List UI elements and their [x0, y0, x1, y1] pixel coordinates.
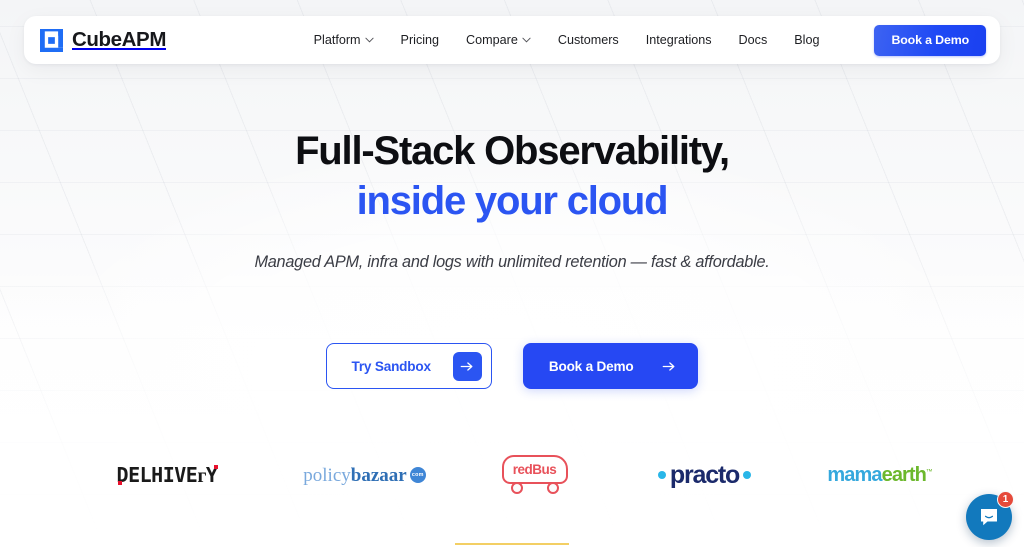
hero-cta-group: Try Sandbox Book a Demo	[0, 343, 1024, 389]
brand-logo-link[interactable]: CubeAPM	[40, 28, 166, 52]
headline-line-1: Full-Stack Observability,	[295, 129, 729, 173]
nav-label: Platform	[314, 33, 361, 47]
chat-widget: 1	[966, 494, 1012, 540]
mamaearth-wordmark-a: mama	[827, 464, 881, 486]
policybazaar-com-badge: com	[410, 467, 426, 483]
logo-delhivery: DELHIVEᴦY	[57, 452, 277, 498]
mamaearth-trademark: ™	[926, 468, 932, 475]
nav-item-compare[interactable]: Compare	[466, 33, 531, 47]
header-book-demo-button[interactable]: Book a Demo	[874, 25, 986, 56]
try-sandbox-label: Try Sandbox	[351, 359, 430, 374]
logo-mamaearth: mamaearth™	[792, 452, 967, 498]
try-sandbox-button[interactable]: Try Sandbox	[326, 343, 491, 389]
nav-item-integrations[interactable]: Integrations	[646, 33, 712, 47]
nav-label: Customers	[558, 33, 619, 47]
nav-label: Docs	[739, 33, 768, 47]
practo-dot-right	[743, 471, 751, 479]
arrow-right-icon	[453, 352, 482, 381]
nav-label: Compare	[466, 33, 518, 47]
nav-item-pricing[interactable]: Pricing	[401, 33, 440, 47]
book-demo-button[interactable]: Book a Demo	[523, 343, 698, 389]
redbus-wordmark: redBus	[513, 463, 557, 477]
practo-wordmark: practo	[670, 463, 739, 488]
hero-section: Full-Stack Observability, inside your cl…	[0, 130, 1024, 272]
page-title: Full-Stack Observability, inside your cl…	[0, 130, 1024, 223]
nav-item-customers[interactable]: Customers	[558, 33, 619, 47]
redbus-bus-shape: redBus	[502, 455, 568, 484]
policybazaar-wordmark-light: policy	[303, 465, 351, 486]
policybazaar-wordmark-bold: bazaar	[351, 465, 407, 486]
headline-line-2: inside your cloud	[0, 180, 1024, 223]
chevron-down-icon	[365, 37, 374, 43]
book-demo-label: Book a Demo	[549, 359, 634, 374]
chat-bubble-icon	[977, 505, 1001, 529]
site-header: CubeAPM Platform Pricing Compare Custome…	[24, 16, 1000, 64]
nav-label: Pricing	[401, 33, 440, 47]
nav-label: Blog	[794, 33, 819, 47]
logo-policybazaar: policybazaar com	[277, 452, 452, 498]
delhivery-accent-dot	[118, 481, 122, 485]
mamaearth-wordmark-b: earth	[882, 464, 926, 486]
nav-item-docs[interactable]: Docs	[739, 33, 768, 47]
logo-practo: practo	[617, 452, 792, 498]
landing-page: CubeAPM Platform Pricing Compare Custome…	[0, 0, 1024, 547]
delhivery-accent-dot	[214, 465, 218, 469]
redbus-wheel	[511, 482, 523, 494]
nav-item-platform[interactable]: Platform	[314, 33, 374, 47]
chevron-down-icon	[522, 37, 531, 43]
logo-redbus: redBus	[452, 452, 617, 498]
delhivery-wordmark: DELHIVEᴦY	[117, 463, 218, 487]
cube-logo-icon	[40, 29, 63, 52]
brand-name: CubeAPM	[72, 28, 166, 52]
section-accent-rule	[455, 543, 569, 545]
chat-unread-badge: 1	[997, 491, 1014, 508]
main-navigation: Platform Pricing Compare Customers Integ…	[314, 25, 986, 56]
redbus-wheel	[547, 482, 559, 494]
practo-dot-left	[658, 471, 666, 479]
nav-label: Integrations	[646, 33, 712, 47]
nav-item-blog[interactable]: Blog	[794, 33, 819, 47]
hero-subtitle: Managed APM, infra and logs with unlimit…	[0, 253, 1024, 272]
arrow-right-icon	[662, 360, 676, 373]
customer-logo-strip: DELHIVEᴦY policybazaar com redBus pra	[0, 452, 1024, 498]
